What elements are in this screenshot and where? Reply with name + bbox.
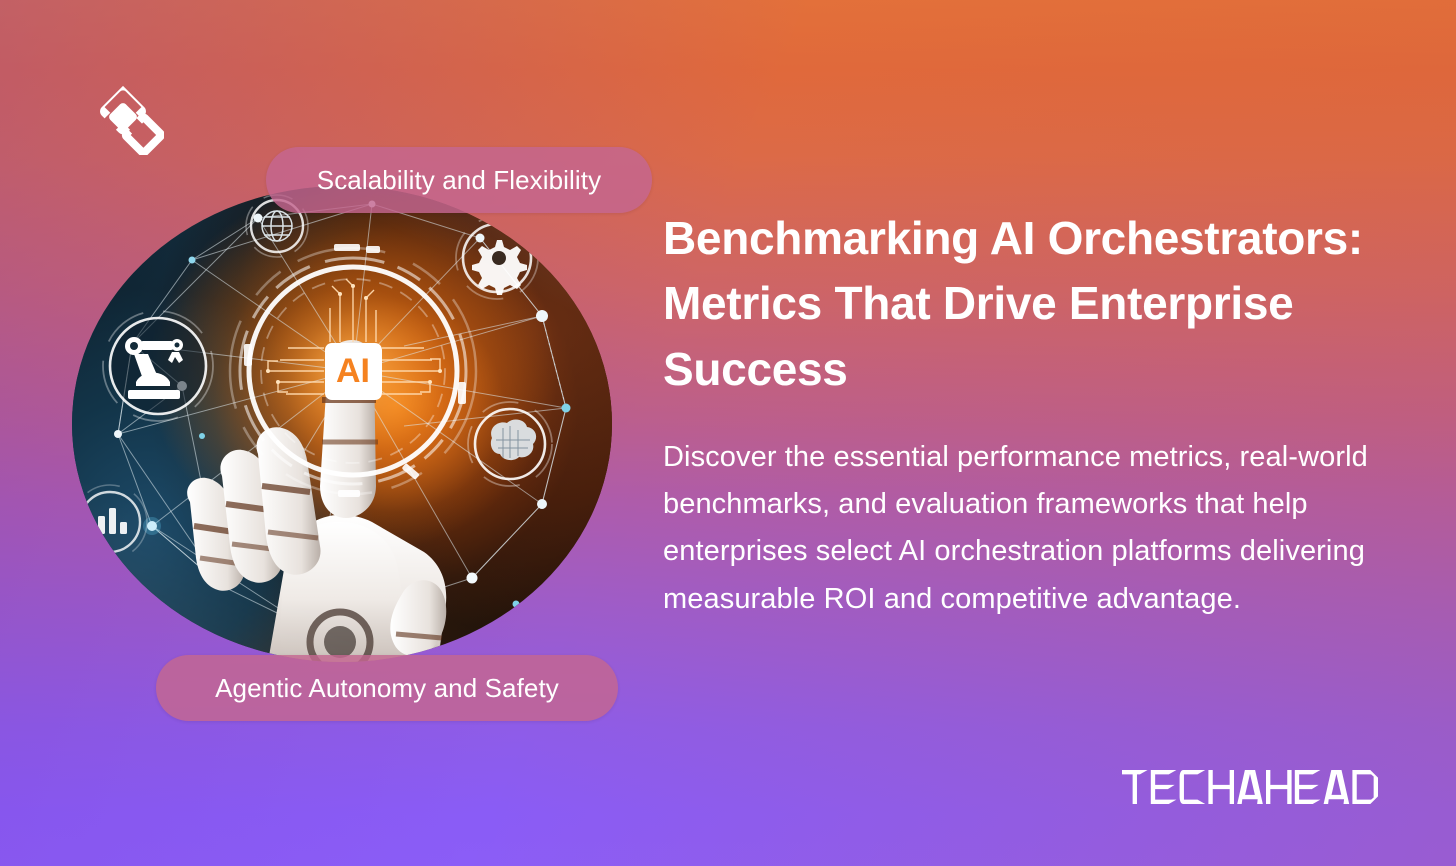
- chart-icon: [73, 485, 147, 559]
- page-description: Discover the essential performance metri…: [663, 434, 1405, 623]
- hero-card: AI Scalability and Flexibility Agentic A…: [0, 0, 1456, 866]
- ai-label: AI: [336, 352, 370, 390]
- tag-pill-scalability[interactable]: Scalability and Flexibility: [266, 147, 652, 213]
- tag-pill-label: Agentic Autonomy and Safety: [215, 675, 559, 701]
- brand-logomark[interactable]: [82, 79, 164, 155]
- content-column: Benchmarking AI Orchestrators: Metrics T…: [663, 206, 1405, 623]
- hero-image: AI: [72, 186, 612, 662]
- tag-pill-label: Scalability and Flexibility: [317, 167, 602, 193]
- tag-pill-agentic-autonomy[interactable]: Agentic Autonomy and Safety: [156, 655, 618, 721]
- network-overlay: AI: [72, 186, 612, 662]
- techahead-wordmark[interactable]: [1122, 770, 1378, 804]
- page-title: Benchmarking AI Orchestrators: Metrics T…: [663, 206, 1405, 402]
- techahead-wordmark-icon: [1122, 770, 1378, 804]
- hero-image-photo: AI: [72, 186, 612, 662]
- interlocking-rounded-diamonds-icon: [82, 79, 164, 155]
- robot-arm-icon: [103, 311, 213, 421]
